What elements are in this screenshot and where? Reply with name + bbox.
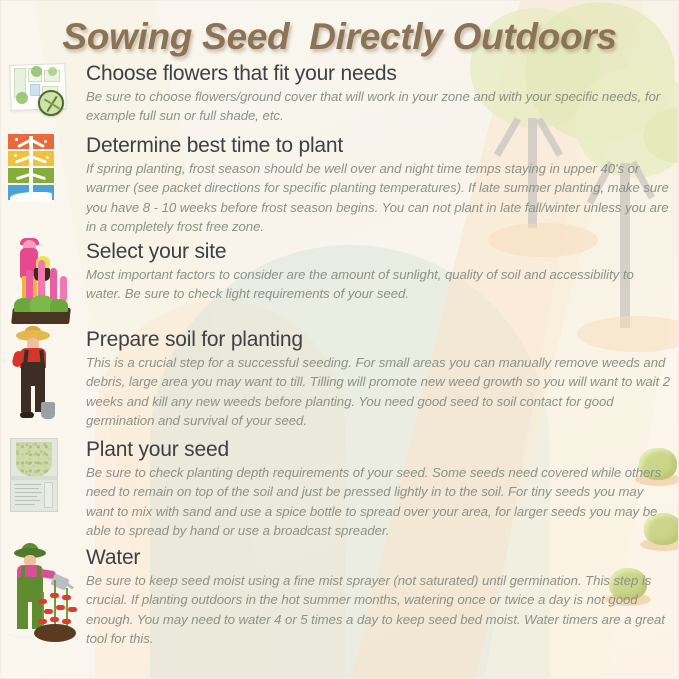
leg-gap xyxy=(31,386,35,414)
step-text: Plant your seed Be sure to check plantin… xyxy=(86,438,679,541)
icon-column xyxy=(8,134,86,240)
foxglove-spike xyxy=(60,276,67,302)
seasons-leaf xyxy=(15,138,18,141)
shovel-blade xyxy=(41,402,55,419)
soil-mound xyxy=(34,624,76,642)
red-bloom xyxy=(62,595,71,600)
seasons-tree-trunk xyxy=(29,136,33,198)
step-heading: Prepare soil for planting xyxy=(86,328,671,352)
step-item-choose-flowers: Choose flowers that fit your needs Be su… xyxy=(0,62,679,134)
step-item-determine-time: Determine best time to plant If spring p… xyxy=(0,134,679,240)
watering-gardener-icon xyxy=(8,546,78,642)
garden-plan-icon xyxy=(8,62,78,118)
step-item-water: Water Be sure to keep seed moist using a… xyxy=(0,546,679,656)
icon-column xyxy=(8,328,86,438)
seasons-snow xyxy=(10,192,52,202)
plan-pond xyxy=(30,84,40,96)
red-bloom xyxy=(38,619,47,624)
seasons-leaf xyxy=(46,156,49,159)
seasons-leaf xyxy=(14,154,17,157)
packet-text-line xyxy=(15,488,39,489)
seed-packet-icon xyxy=(8,438,78,516)
packet-seed-window xyxy=(16,442,52,476)
step-body: Be sure to keep seed moist using a fine … xyxy=(86,571,671,649)
plan-shrub xyxy=(48,67,57,76)
step-text: Water Be sure to keep seed moist using a… xyxy=(86,546,679,649)
step-body: This is a crucial step for a successful … xyxy=(86,353,671,431)
step-body: Be sure to choose flowers/ground cover t… xyxy=(86,87,671,126)
step-text: Determine best time to plant If spring p… xyxy=(86,134,679,237)
packet-text-line xyxy=(15,484,41,485)
step-body: Most important factors to consider are t… xyxy=(86,265,671,304)
packet-text-line xyxy=(15,496,37,497)
step-body: Be sure to check planting depth requirem… xyxy=(86,463,671,541)
step-heading: Choose flowers that fit your needs xyxy=(86,62,671,86)
red-bloom xyxy=(62,619,71,624)
gardener-shoe xyxy=(20,412,34,418)
step-heading: Select your site xyxy=(86,240,671,264)
packet-flap xyxy=(10,476,58,480)
overall-strap xyxy=(21,566,25,579)
packet-text-line xyxy=(15,504,35,505)
seed-tube xyxy=(44,482,53,508)
icon-column xyxy=(8,546,86,656)
red-bloom xyxy=(50,617,59,622)
step-item-select-site: Select your site Most important factors … xyxy=(0,240,679,328)
packet-text-line xyxy=(15,500,40,501)
red-bloom xyxy=(38,599,47,604)
icon-column xyxy=(8,438,86,546)
step-text: Select your site Most important factors … xyxy=(86,240,679,304)
gardener-shovel-icon xyxy=(8,328,78,420)
steps-list: Choose flowers that fit your needs Be su… xyxy=(0,62,679,656)
four-seasons-icon xyxy=(8,134,78,202)
packet-text-line xyxy=(15,492,41,493)
red-bloom xyxy=(44,609,53,614)
step-heading: Determine best time to plant xyxy=(86,134,671,158)
red-bloom xyxy=(56,605,65,610)
overall-strap xyxy=(37,566,41,579)
step-heading: Plant your seed xyxy=(86,438,671,462)
step-text: Prepare soil for planting This is a cruc… xyxy=(86,328,679,431)
step-body: If spring planting, frost season should … xyxy=(86,159,671,237)
step-heading: Water xyxy=(86,546,671,570)
plan-shrub xyxy=(31,66,42,77)
step-item-plant-seed: Plant your seed Be sure to check plantin… xyxy=(0,438,679,546)
icon-column xyxy=(8,240,86,328)
seasons-leaf xyxy=(44,140,47,143)
compass-icon xyxy=(38,90,64,116)
step-item-prepare-soil: Prepare soil for planting This is a cruc… xyxy=(0,328,679,438)
plan-shrub xyxy=(16,92,28,104)
step-text: Choose flowers that fit your needs Be su… xyxy=(86,62,679,126)
red-bloom xyxy=(68,607,77,612)
infographic-poster: Sowing Seed Directly Outdoors xyxy=(0,0,679,679)
red-bloom xyxy=(50,593,59,598)
foliage xyxy=(50,299,68,312)
icon-column xyxy=(8,62,86,134)
planting-flowers-icon xyxy=(8,240,78,324)
page-title: Sowing Seed Directly Outdoors xyxy=(0,16,679,58)
